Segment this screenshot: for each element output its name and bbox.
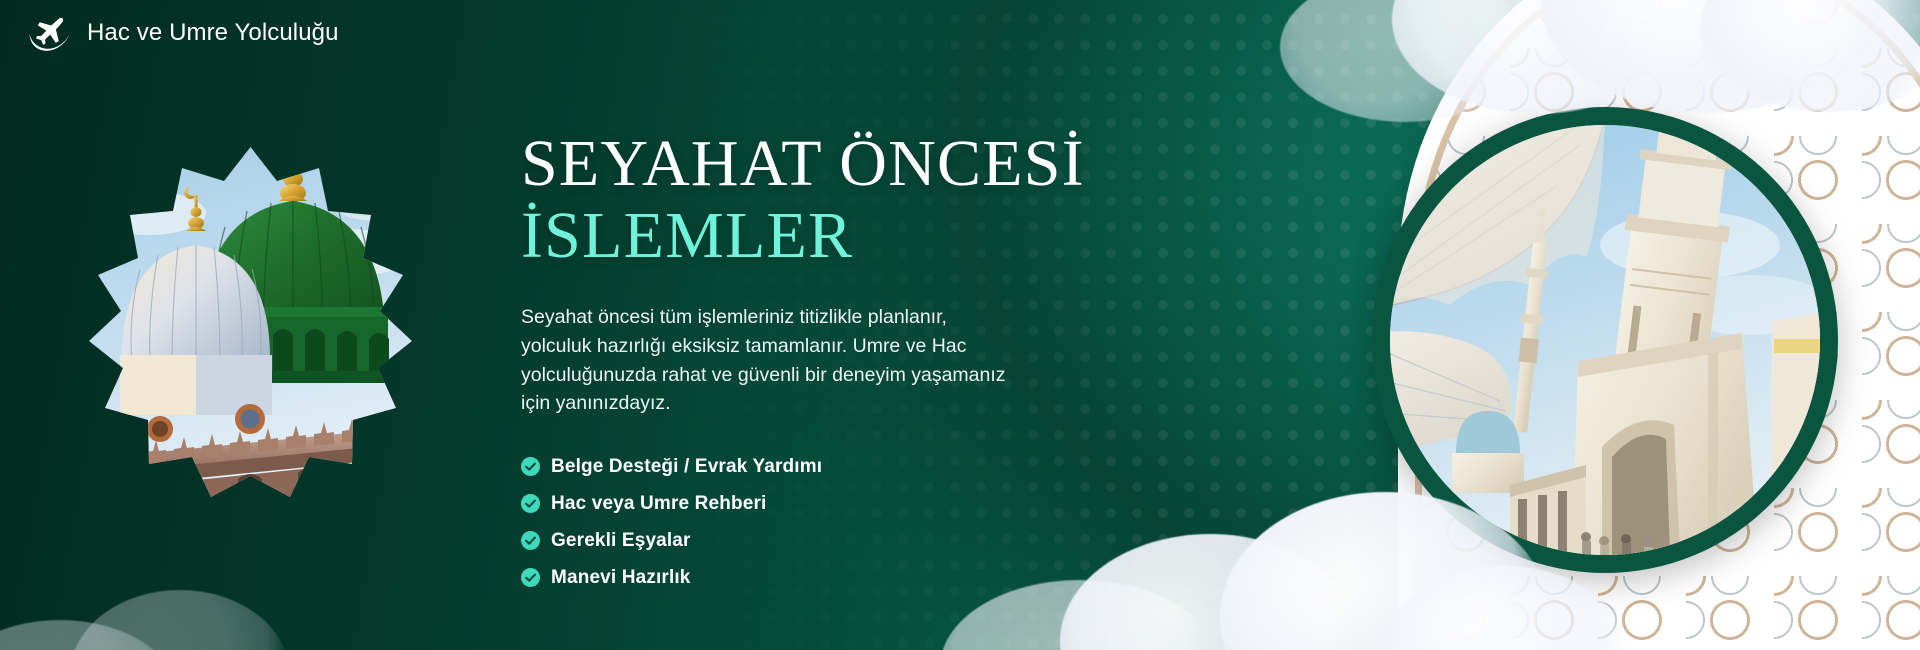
list-item: Belge Desteği / Evrak Yardımı bbox=[521, 456, 1081, 478]
check-circle-icon bbox=[521, 457, 540, 476]
hero-banner: Hac ve Umre Yolculuğu SEYAHAT ÖNCESİ İSL… bbox=[0, 0, 1920, 650]
hero-paragraph: Seyahat öncesi tüm işlemleriniz titizlik… bbox=[521, 303, 1013, 418]
hero-content: SEYAHAT ÖNCESİ İSLEMLER Seyahat öncesi t… bbox=[521, 132, 1081, 604]
green-dome-rosette-illustration bbox=[78, 143, 423, 498]
feature-label: Manevi Hazırlık bbox=[551, 567, 691, 589]
hero-heading-line2: İSLEMLER bbox=[521, 202, 1081, 269]
feature-label: Gerekli Eşyalar bbox=[551, 530, 691, 552]
right-photo-ring bbox=[1372, 107, 1838, 573]
feature-label: Belge Desteği / Evrak Yardımı bbox=[551, 456, 822, 478]
feature-label: Hac veya Umre Rehberi bbox=[551, 493, 766, 515]
masjid-nabawi-courtyard-illustration bbox=[1390, 125, 1820, 555]
list-item: Hac veya Umre Rehberi bbox=[521, 493, 1081, 515]
list-item: Gerekli Eşyalar bbox=[521, 530, 1081, 552]
hero-heading-line1: SEYAHAT ÖNCESİ bbox=[521, 132, 1081, 196]
check-circle-icon bbox=[521, 494, 540, 513]
right-photo-circle bbox=[1390, 125, 1820, 555]
left-rosette-image bbox=[78, 143, 423, 498]
brand-name: Hac ve Umre Yolculuğu bbox=[87, 19, 339, 47]
check-circle-icon bbox=[521, 568, 540, 587]
check-circle-icon bbox=[521, 531, 540, 550]
feature-list: Belge Desteği / Evrak Yardımı Hac veya U… bbox=[521, 456, 1081, 589]
brand-logo[interactable]: Hac ve Umre Yolculuğu bbox=[25, 12, 339, 54]
list-item: Manevi Hazırlık bbox=[521, 567, 1081, 589]
airplane-swoosh-icon bbox=[25, 12, 73, 54]
